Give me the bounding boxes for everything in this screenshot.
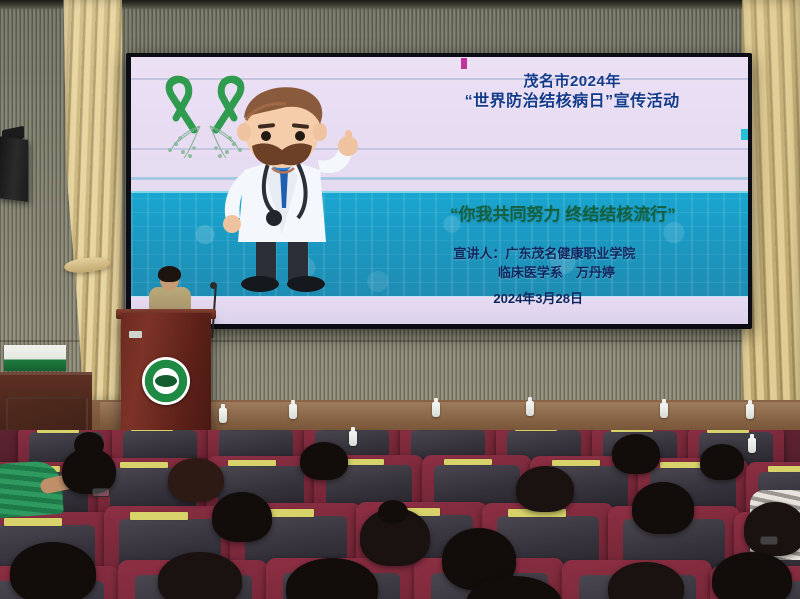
seat-number-label [444, 459, 492, 465]
water-bottle [526, 401, 534, 416]
audience-member-hair-bun [378, 500, 408, 524]
slide-title-line2: “世界防治结核病日”宣传活动 [402, 92, 741, 112]
eyeglasses-icon [760, 536, 778, 545]
seat-number-label [707, 430, 749, 433]
seat-number-label [515, 430, 557, 431]
audience-member-head [168, 458, 224, 502]
seat-number-label [611, 430, 653, 432]
seat-number-label [768, 466, 800, 472]
audience-member-head [212, 492, 272, 542]
audience-member-head [700, 444, 744, 480]
audience-member-head [158, 552, 242, 599]
audience-member-head [712, 552, 792, 599]
audience-member-head [10, 542, 96, 599]
seat-number-label [130, 512, 188, 520]
emblem-center-mark [155, 375, 177, 387]
seat-number-label [131, 430, 173, 431]
seat-number-label [228, 460, 276, 466]
speaking-podium [121, 313, 211, 431]
seat-number-label [120, 462, 168, 468]
water-bottle [748, 438, 756, 453]
slide-pink-marker [461, 58, 467, 69]
white-green-carton [4, 345, 66, 371]
seat-number-label [552, 460, 600, 466]
audience-member-head [632, 482, 694, 534]
slide-title-line1: 茂名市2024年 [523, 73, 620, 90]
podium-control-plate [129, 331, 142, 338]
slide-cyan-marker [741, 129, 748, 140]
water-bottle [746, 404, 754, 419]
slide-presenter: 宣讲人：广东茂名健康职业学院 临床医学系 万丹婷 [365, 244, 723, 283]
presenter-hair [158, 266, 181, 282]
seat-number-label [37, 430, 79, 433]
eyeglasses-icon [92, 488, 110, 497]
water-bottle [660, 403, 668, 418]
slide-title: 茂名市2024年 “世界防治结核病日”宣传活动 [402, 73, 741, 112]
audience-member-head [744, 502, 800, 556]
audience-member-head [612, 434, 660, 474]
auditorium-photo: 茂名市2024年 “世界防治结核病日”宣传活动 “你我共同努力 终结结核流行” … [0, 0, 800, 599]
cartoon-doctor-thumbs-up [202, 84, 366, 299]
water-bottle [289, 404, 297, 419]
audience-seating-area [0, 430, 800, 599]
audience-member-hair-bun [74, 432, 104, 458]
audience-member-head [300, 442, 348, 480]
college-seal-emblem [142, 357, 190, 405]
seat-number-label [4, 518, 62, 526]
water-bottle [349, 431, 357, 446]
slide-presenter-line2: 临床医学系 万丹婷 [365, 263, 723, 283]
projection-screen[interactable]: 茂名市2024年 “世界防治结核病日”宣传活动 “你我共同努力 终结结核流行” … [131, 57, 748, 324]
slide-presenter-line1: 宣讲人：广东茂名健康职业学院 [453, 246, 635, 261]
water-bottle [432, 402, 440, 417]
slide-slogan: “你我共同努力 终结结核流行” [378, 200, 748, 225]
water-bottle [219, 408, 227, 423]
slide-date: 2024年3月28日 [365, 288, 711, 307]
audience-member-head [516, 466, 574, 512]
loudspeaker-icon [0, 136, 28, 202]
